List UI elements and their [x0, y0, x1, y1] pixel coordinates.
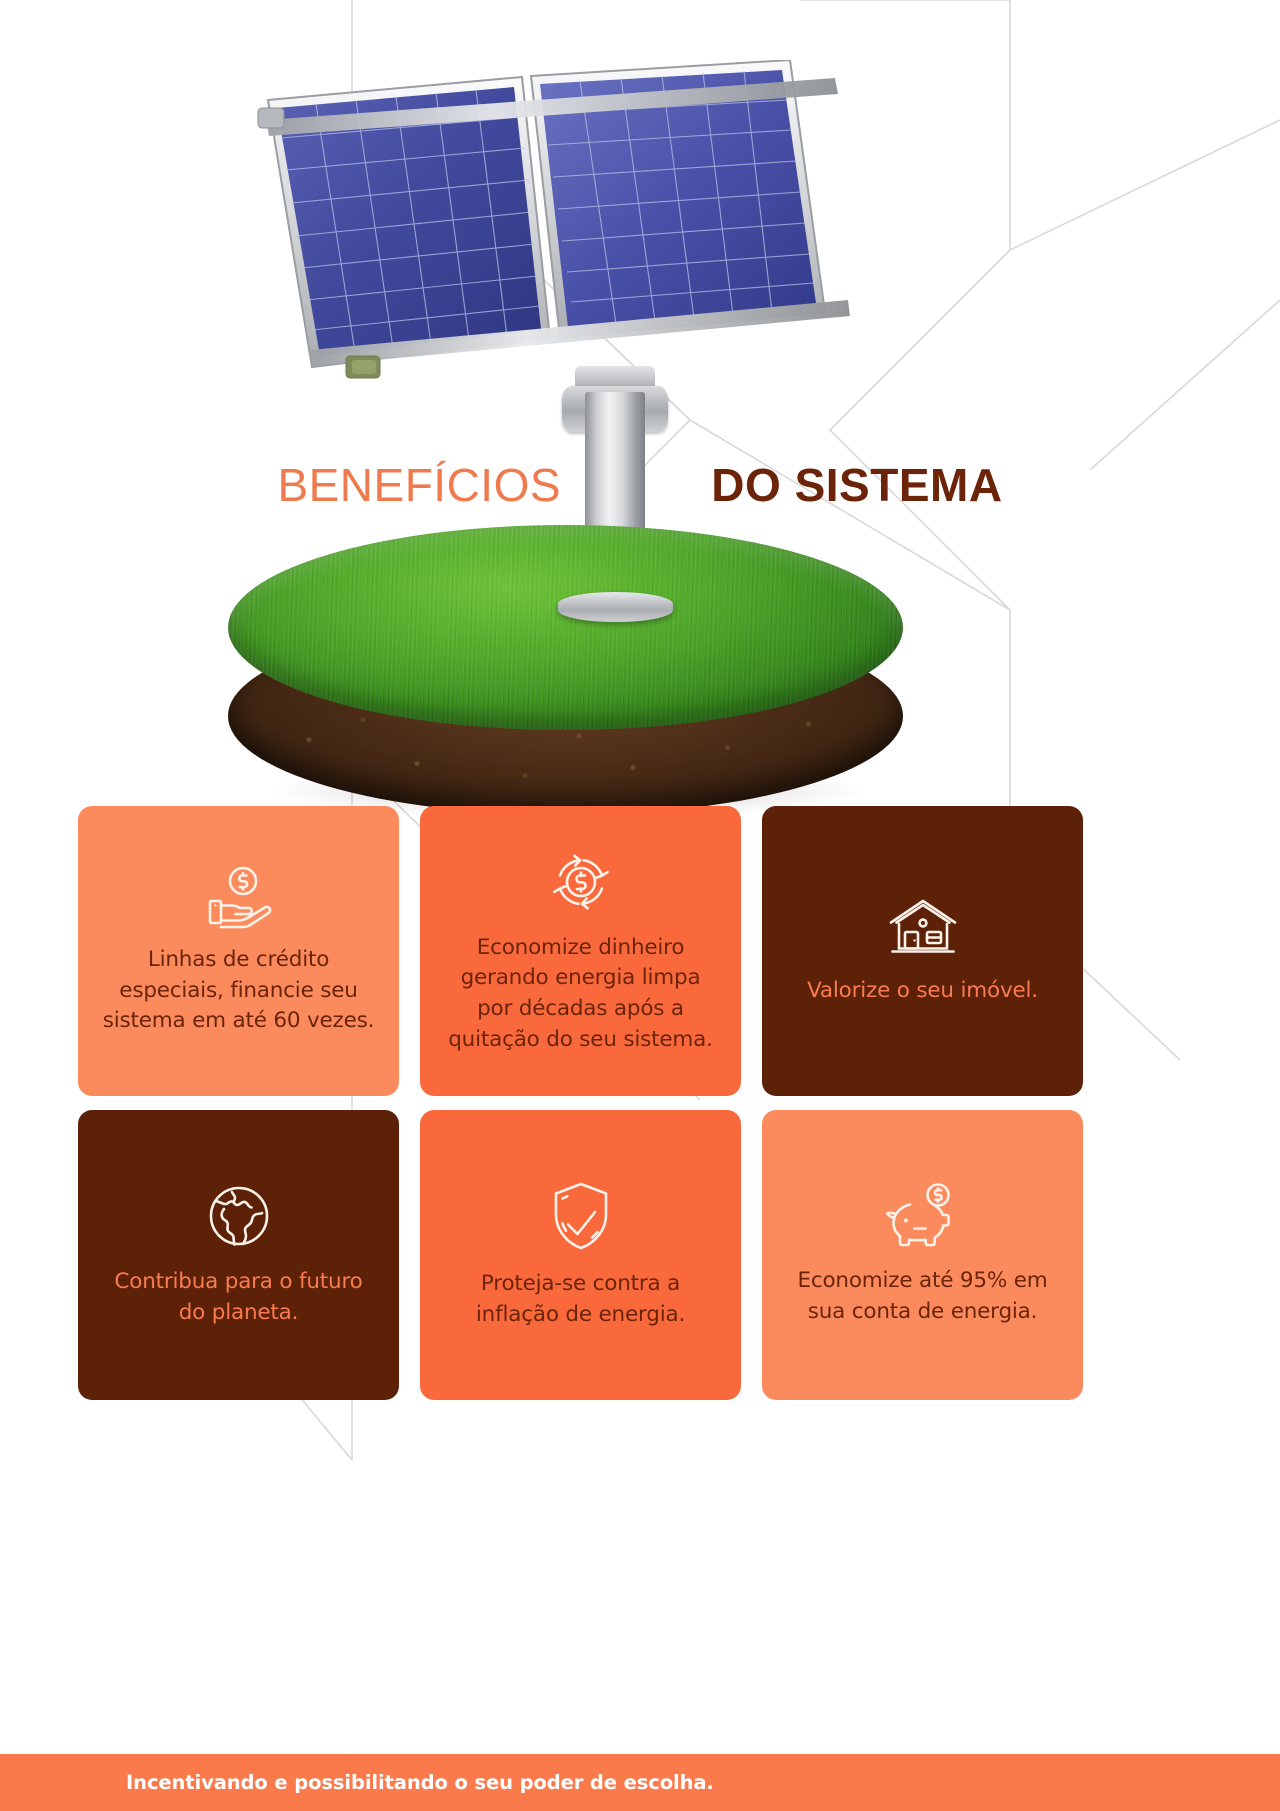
footer-bar: Incentivando e possibilitando o seu pode…: [0, 1754, 1280, 1811]
page-title: BENEFÍCIOS DO SISTEMA: [0, 458, 1280, 512]
money-recycle-icon: [546, 847, 616, 917]
benefit-card-text: Valorize o seu imóvel.: [807, 976, 1038, 1007]
pole-base-plate: [558, 592, 673, 622]
grass-layer: [228, 525, 903, 730]
piggy-bank-icon: [883, 1182, 963, 1250]
benefit-card-text: Contribua para o futuro do planeta.: [98, 1267, 379, 1328]
benefit-card-credit[interactable]: Linhas de crédito especiais, financie se…: [78, 806, 399, 1096]
benefits-grid: Linhas de crédito especiais, financie se…: [78, 806, 1105, 1400]
benefit-card-bill-savings[interactable]: Economize até 95% em sua conta de energi…: [762, 1110, 1083, 1400]
house-icon: [885, 896, 961, 960]
benefit-card-protection[interactable]: Proteja-se contra a inflação de energia.: [420, 1110, 741, 1400]
page-title-part2: DO SISTEMA: [711, 459, 1002, 511]
footer-slogan: Incentivando e possibilitando o seu pode…: [126, 1771, 714, 1794]
grass-soil-disc: [228, 525, 903, 820]
hero-illustration: [0, 0, 1280, 830]
benefit-card-text: Economize dinheiro gerando energia limpa…: [440, 933, 721, 1055]
solar-panel-icon: [250, 60, 890, 400]
benefit-card-text: Proteja-se contra a inflação de energia.: [440, 1269, 721, 1330]
benefit-card-text: Economize até 95% em sua conta de energi…: [782, 1266, 1063, 1327]
benefit-card-property-value[interactable]: Valorize o seu imóvel.: [762, 806, 1083, 1096]
benefit-card-savings[interactable]: Economize dinheiro gerando energia limpa…: [420, 806, 741, 1096]
shield-check-icon: [548, 1179, 614, 1253]
globe-icon: [204, 1181, 274, 1251]
benefit-card-text: Linhas de crédito especiais, financie se…: [98, 945, 379, 1037]
hand-holding-coin-icon: [202, 865, 276, 929]
page-title-part1: BENEFÍCIOS: [277, 459, 561, 511]
benefit-card-planet[interactable]: Contribua para o futuro do planeta.: [78, 1110, 399, 1400]
